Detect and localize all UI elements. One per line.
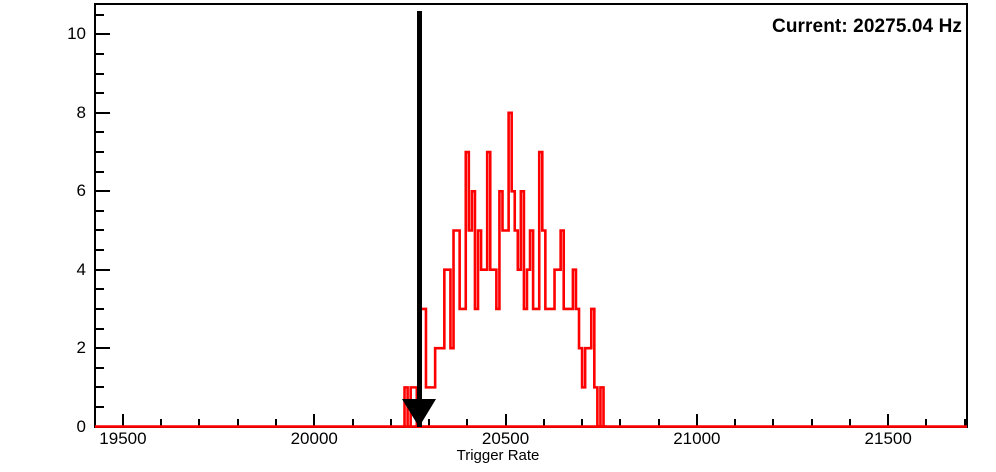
- current-rate-marker-arrowhead: [402, 399, 436, 427]
- histogram-canvas: 0246810 1950020000205002100021500 Curren…: [0, 0, 996, 472]
- histogram-plot: [0, 0, 996, 472]
- histogram-outline: [405, 113, 607, 427]
- current-rate-readout: Current: 20275.04 Hz: [772, 16, 962, 38]
- x-axis-title: Trigger Rate: [0, 447, 996, 464]
- current-rate-marker-line: [417, 11, 422, 427]
